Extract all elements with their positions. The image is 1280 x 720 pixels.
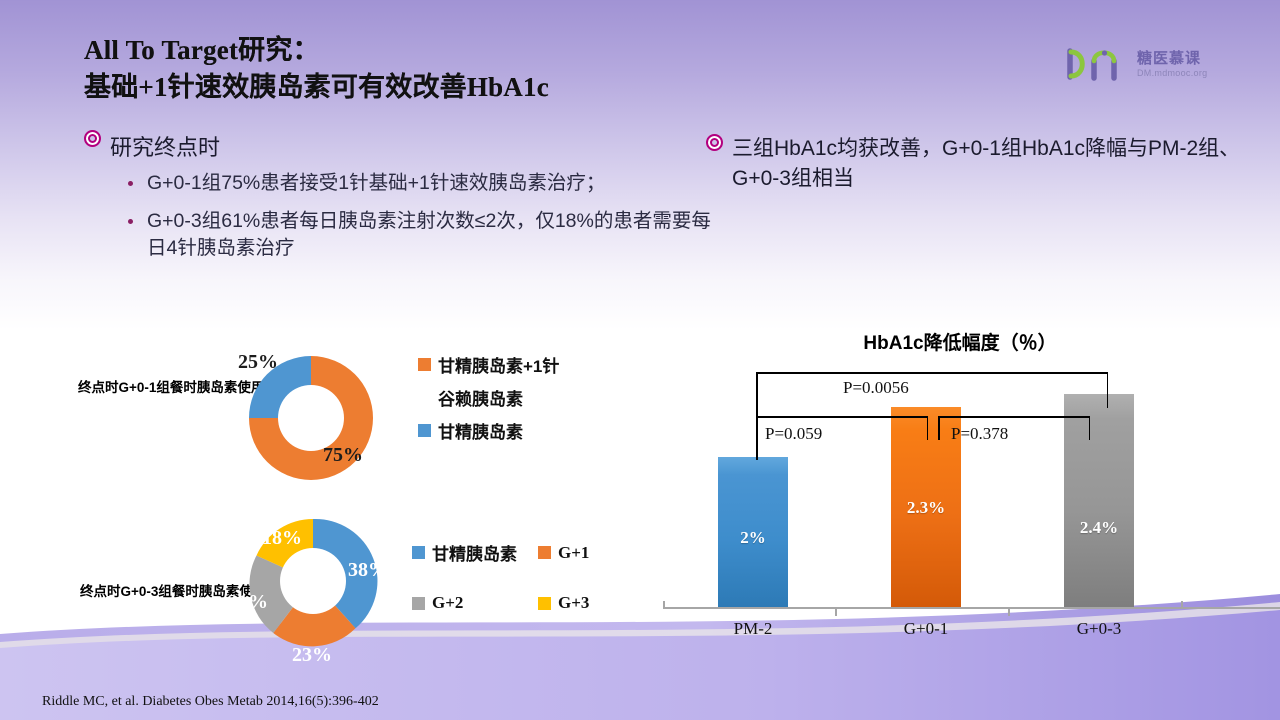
ring-bullet-icon [706, 134, 723, 151]
right-heading-label: 三组HbA1c均获改善，G+0-1组HbA1c降幅与PM-2组、G+0-3组相当 [732, 134, 1266, 195]
donut-g01-caption: 终点时G+0-1组餐时胰岛素使用情况 [78, 378, 218, 398]
legend-swatch-icon [538, 597, 551, 610]
hba1c-bar-chart: HbA1c降低幅度（％） 2% 2.3% 2.4% PM-2 G+0-1 G+0… [655, 328, 1265, 646]
left-heading: 研究终点时 [84, 130, 714, 162]
p-value-0056: P=0.0056 [843, 378, 909, 398]
logo-brand-url: DM.mdmooc.org [1137, 69, 1207, 78]
x-label-pm-2: PM-2 [708, 619, 798, 639]
legend-label-2: 甘精胰岛素 [438, 418, 523, 443]
legend-label-0: 甘精胰岛素 [432, 540, 517, 565]
left-text-block: 研究终点时 G+0-1组75%患者接受1针基础+1针速效胰岛素治疗； G+0-3… [84, 130, 714, 263]
donut-g03-legend: 甘精胰岛素 G+1 G+2 G+3 [412, 540, 632, 613]
x-axis-tick [663, 601, 665, 609]
legend-label-0: 甘精胰岛素+1针 [438, 352, 559, 377]
brand-logo: 糖医慕课 DM.mdmooc.org [1066, 38, 1242, 90]
bar-value-g-0-1: 2.3% [891, 498, 961, 518]
citation-reference: Riddle MC, et al. Diabetes Obes Metab 20… [42, 694, 379, 710]
legend-label-1: G+1 [558, 543, 589, 563]
donut-g03-caption: 终点时G+0-3组餐时胰岛素使用情况 [80, 582, 220, 602]
x-axis-tick [1008, 607, 1010, 616]
legend-item-0: 甘精胰岛素 [412, 540, 538, 565]
legend-swatch-icon [538, 546, 551, 559]
slide-canvas: All To Target研究： 基础+1针速效胰岛素可有效改善HbA1c 糖医… [0, 0, 1280, 720]
left-heading-label: 研究终点时 [110, 130, 220, 162]
title-line-1: All To Target研究： [84, 32, 549, 69]
donut-g03-label-38: 38% [348, 559, 388, 582]
bar-g-0-3 [1064, 394, 1134, 607]
x-axis-tick [1181, 601, 1183, 609]
donut-g03-label-21: 21% [228, 591, 268, 614]
legend-item-2: G+2 [412, 593, 538, 613]
bar-chart-title: HbA1c降低幅度（％） [655, 328, 1265, 355]
legend-item-3: G+3 [538, 593, 589, 613]
dot-bullet-icon [128, 219, 133, 224]
legend-item-0: 甘精胰岛素+1针 [418, 352, 638, 377]
donut-g03-label-18: 18% [262, 527, 302, 550]
right-heading: 三组HbA1c均获改善，G+0-1组HbA1c降幅与PM-2组、G+0-3组相当 [706, 134, 1266, 195]
right-text-block: 三组HbA1c均获改善，G+0-1组HbA1c降幅与PM-2组、G+0-3组相当 [706, 134, 1266, 195]
bar-value-pm-2: 2% [718, 528, 788, 548]
dm-logo-icon [1066, 47, 1128, 81]
x-axis-tick [835, 607, 837, 616]
logo-wordmark: 糖医慕课 DM.mdmooc.org [1137, 51, 1207, 78]
x-label-g-0-1: G+0-1 [881, 619, 971, 639]
p-value-378: P=0.378 [951, 424, 1008, 444]
legend-item-1: G+1 [538, 543, 589, 563]
left-bullet-1-label: G+0-1组75%患者接受1针基础+1针速效胰岛素治疗； [147, 170, 605, 198]
title-line-2: 基础+1针速效胰岛素可有效改善HbA1c [84, 69, 549, 106]
legend-swatch-icon [412, 546, 425, 559]
legend-label-3: G+3 [558, 593, 589, 613]
legend-label-1: 谷赖胰岛素 [438, 385, 523, 410]
legend-swatch-icon [412, 597, 425, 610]
left-bullet-1: G+0-1组75%患者接受1针基础+1针速效胰岛素治疗； [128, 170, 714, 198]
logo-brand-cn: 糖医慕课 [1137, 51, 1207, 66]
left-bullet-2: G+0-3组61%患者每日胰岛素注射次数≤2次，仅18%的患者需要每日4针胰岛素… [128, 208, 714, 263]
legend-label-2: G+2 [432, 593, 463, 613]
donut-g03-label-23: 23% [292, 644, 332, 667]
ring-bullet-icon [84, 130, 101, 147]
donut-g01-label-75: 75% [323, 444, 363, 467]
p-value-059: P=0.059 [765, 424, 822, 444]
legend-swatch-icon [418, 358, 431, 371]
bar-value-g-0-3: 2.4% [1064, 518, 1134, 538]
donut-g01-legend: 甘精胰岛素+1针 谷赖胰岛素 甘精胰岛素 [418, 352, 638, 443]
slide-title: All To Target研究： 基础+1针速效胰岛素可有效改善HbA1c [84, 32, 549, 105]
legend-item-1: 谷赖胰岛素 [418, 385, 638, 410]
legend-swatch-icon [418, 424, 431, 437]
left-bullet-2-label: G+0-3组61%患者每日胰岛素注射次数≤2次，仅18%的患者需要每日4针胰岛素… [147, 208, 714, 263]
x-label-g-0-3: G+0-3 [1054, 619, 1144, 639]
legend-item-2: 甘精胰岛素 [418, 418, 638, 443]
donut-g01-label-25: 25% [238, 351, 278, 374]
dot-bullet-icon [128, 181, 133, 186]
x-axis-line [663, 607, 1280, 609]
